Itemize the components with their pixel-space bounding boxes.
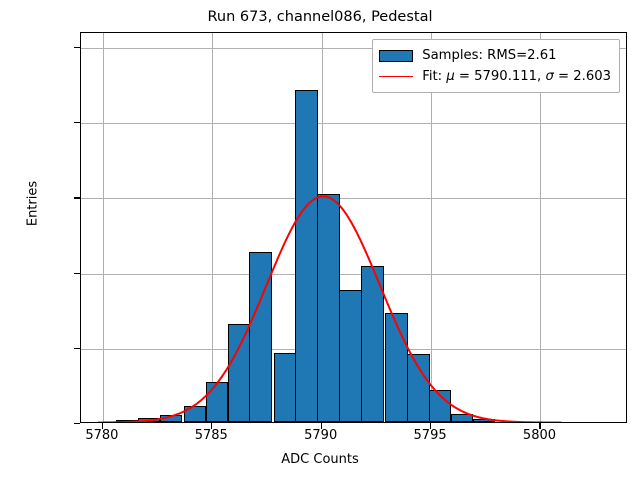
x-tick-mark bbox=[102, 423, 103, 429]
legend-fit-prefix: Fit: bbox=[422, 69, 446, 84]
x-tick-label: 5800 bbox=[523, 428, 556, 443]
matplotlib-figure: Run 673, channel086, Pedestal Samples: R… bbox=[0, 0, 640, 480]
y-tick-mark bbox=[74, 47, 80, 48]
legend-label-samples: Samples: RMS=2.61 bbox=[422, 49, 556, 62]
plot-axes: Samples: RMS=2.61 Fit: μ = 5790.111, σ =… bbox=[80, 32, 627, 423]
x-tick-label: 5790 bbox=[304, 428, 337, 443]
x-axis-label: ADC Counts bbox=[0, 452, 640, 467]
x-tick-label: 5785 bbox=[195, 428, 228, 443]
legend-fit-mu-value: = 5790.111, bbox=[455, 69, 546, 84]
y-tick-mark bbox=[74, 348, 80, 349]
legend-fit-sigma-value: = 2.603 bbox=[554, 69, 611, 84]
legend-item-fit: Fit: μ = 5790.111, σ = 2.603 bbox=[379, 66, 611, 87]
x-tick-mark bbox=[539, 423, 540, 429]
x-tick-mark bbox=[211, 423, 212, 429]
x-tick-mark bbox=[430, 423, 431, 429]
page-title: Run 673, channel086, Pedestal bbox=[0, 9, 640, 25]
y-tick-mark bbox=[74, 122, 80, 123]
legend-item-samples: Samples: RMS=2.61 bbox=[379, 45, 611, 66]
legend-fit-sigma-symbol: σ bbox=[545, 69, 553, 84]
x-tick-mark bbox=[321, 423, 322, 429]
legend-fit-mu-symbol: μ bbox=[446, 69, 454, 84]
y-tick-mark bbox=[74, 423, 80, 424]
y-tick-mark bbox=[74, 273, 80, 274]
legend-patch-icon bbox=[379, 50, 413, 62]
x-tick-label: 5795 bbox=[414, 428, 447, 443]
y-axis-label: Entries bbox=[26, 4, 41, 404]
legend-line-icon bbox=[379, 76, 413, 77]
y-tick-mark bbox=[74, 197, 80, 198]
x-tick-label: 5780 bbox=[85, 428, 118, 443]
legend-label-fit: Fit: μ = 5790.111, σ = 2.603 bbox=[422, 70, 611, 83]
legend: Samples: RMS=2.61 Fit: μ = 5790.111, σ =… bbox=[372, 39, 620, 93]
